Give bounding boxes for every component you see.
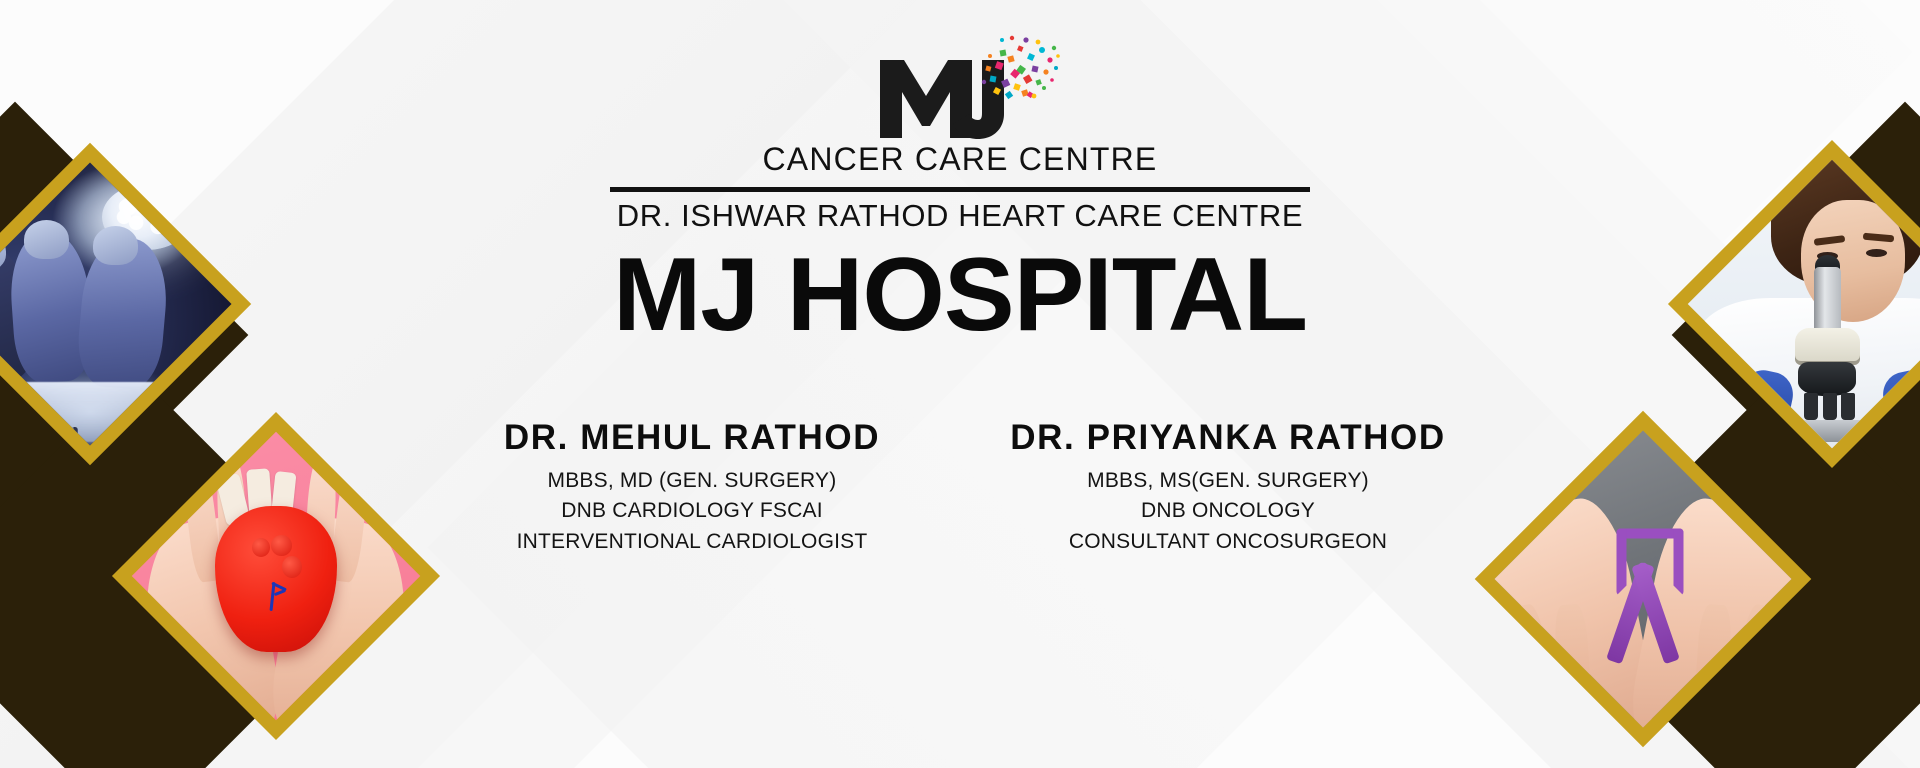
- mj-monogram-logo: [870, 34, 1050, 144]
- confetti-burst-icon: [966, 32, 1062, 110]
- credential-line: DNB ONCOLOGY: [978, 496, 1478, 526]
- logo-block: CANCER CARE CENTRE DR. ISHWAR RATHOD HEA…: [0, 34, 1920, 350]
- hospital-title: MJ HOSPITAL: [0, 241, 1920, 350]
- credential-line: INTERVENTIONAL CARDIOLOGIST: [442, 527, 942, 557]
- banner-content: CANCER CARE CENTRE DR. ISHWAR RATHOD HEA…: [0, 0, 1920, 768]
- doctor-card-mehul-rathod: DR. MEHUL RATHOD MBBS, MD (GEN. SURGERY)…: [442, 418, 942, 557]
- banner-canvas: CANCER CARE CENTRE DR. ISHWAR RATHOD HEA…: [0, 0, 1920, 768]
- doctors-row: DR. MEHUL RATHOD MBBS, MD (GEN. SURGERY)…: [0, 418, 1920, 557]
- doctor-credentials: MBBS, MS(GEN. SURGERY) DNB ONCOLOGY CONS…: [978, 466, 1478, 557]
- credential-line: MBBS, MS(GEN. SURGERY): [978, 466, 1478, 496]
- credential-line: DNB CARDIOLOGY FSCAI: [442, 496, 942, 526]
- doctor-card-priyanka-rathod: DR. PRIYANKA RATHOD MBBS, MS(GEN. SURGER…: [978, 418, 1478, 557]
- doctor-credentials: MBBS, MD (GEN. SURGERY) DNB CARDIOLOGY F…: [442, 466, 942, 557]
- credential-line: MBBS, MD (GEN. SURGERY): [442, 466, 942, 496]
- heart-care-centre-line: DR. ISHWAR RATHOD HEART CARE CENTRE: [0, 200, 1920, 231]
- header-divider-rule: [610, 187, 1310, 192]
- cancer-care-centre-line: CANCER CARE CENTRE: [0, 143, 1920, 175]
- credential-line: CONSULTANT ONCOSURGEON: [978, 527, 1478, 557]
- doctor-name: DR. MEHUL RATHOD: [442, 418, 942, 458]
- doctor-name: DR. PRIYANKA RATHOD: [978, 418, 1478, 458]
